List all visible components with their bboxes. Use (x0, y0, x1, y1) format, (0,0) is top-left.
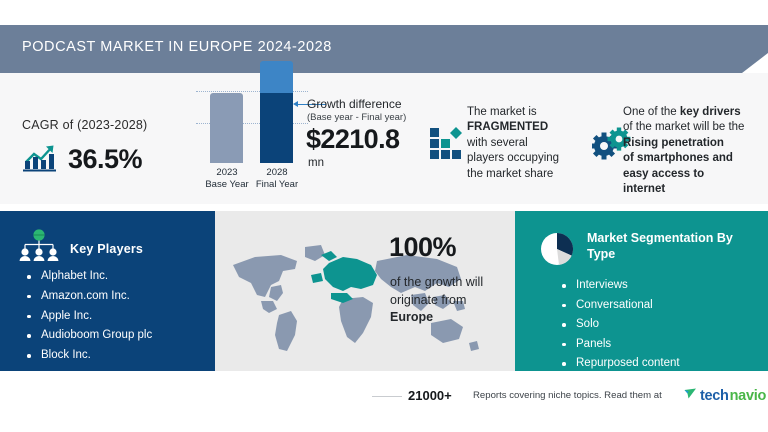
key-players-title: Key Players (70, 242, 143, 256)
key-players-panel: Key Players Alphabet Inc. Amazon.com Inc… (0, 211, 215, 371)
growth-origin-percent: 100% (389, 232, 456, 263)
infographic-root: PODCAST MARKET IN EUROPE 2024-2028 CAGR … (0, 0, 768, 432)
technavio-arrow-icon (684, 387, 697, 405)
footer-divider (372, 396, 402, 397)
growth-origin-text: of the growth will originate from Europe (390, 274, 505, 327)
brand-text-navio: navio (730, 388, 766, 404)
growth-difference-unit: mn (308, 157, 324, 169)
growth-difference-title: Growth difference (307, 97, 402, 111)
cagr-block: 36.5% (22, 141, 142, 178)
growth-difference-subtitle: (Base year - Final year) (307, 112, 406, 123)
cagr-label: CAGR of (2023-2028) (22, 118, 147, 132)
list-item: Apple Inc. (26, 307, 152, 327)
market-segmentation-panel: Market Segmentation By Type Interviews C… (515, 211, 768, 371)
list-item: Panels (561, 335, 680, 355)
squares-diamond-icon (430, 125, 466, 166)
header-banner: PODCAST MARKET IN EUROPE 2024-2028 (0, 25, 768, 73)
europe-highlight (311, 251, 377, 303)
key-drivers-text: One of the key drivers of the market wil… (623, 105, 755, 197)
key-players-list: Alphabet Inc. Amazon.com Inc. Apple Inc.… (26, 267, 152, 366)
list-item: Conversational (561, 296, 680, 316)
segmentation-list: Interviews Conversational Solo Panels Re… (561, 276, 680, 374)
bar-2028-growth-segment (260, 61, 293, 93)
bar-2028-base-segment (260, 93, 293, 163)
technavio-logo[interactable]: tech navio (684, 387, 766, 405)
key-players-header: Key Players (18, 229, 143, 268)
reports-count: 21000+ (408, 388, 452, 403)
list-item: Amazon.com Inc. (26, 287, 152, 307)
people-network-icon (18, 229, 60, 268)
bar-2023 (210, 93, 243, 163)
list-item: Block Inc. (26, 346, 152, 366)
top-stats-strip: CAGR of (2023-2028) 36.5% (0, 73, 768, 204)
list-item: Audioboom Group plc (26, 326, 152, 346)
segmentation-header: Market Segmentation By Type (539, 231, 737, 272)
footer-caption: Reports covering niche topics. Read them… (473, 390, 662, 401)
fragmentation-text: The market is FRAGMENTED with several pl… (467, 105, 587, 182)
footer: 21000+ Reports covering niche topics. Re… (0, 371, 768, 432)
growth-difference-value: $2210.8 (306, 124, 399, 155)
list-item: Solo (561, 315, 680, 335)
bar-2028 (260, 61, 293, 163)
brand-text-tech: tech (700, 388, 729, 404)
bar-2028-caption: 2028 Final Year (247, 167, 307, 191)
page-title: PODCAST MARKET IN EUROPE 2024-2028 (22, 39, 332, 55)
segmentation-title: Market Segmentation By Type (587, 231, 737, 262)
cagr-value: 36.5% (68, 144, 142, 175)
bar-chart-growth-icon (22, 141, 58, 178)
pie-chart-icon (539, 231, 575, 272)
list-item: Alphabet Inc. (26, 267, 152, 287)
growth-bar-chart: 2023 Base Year 2028 Final Year (196, 85, 308, 195)
list-item: Interviews (561, 276, 680, 296)
growth-annotation-arrow (293, 101, 298, 107)
